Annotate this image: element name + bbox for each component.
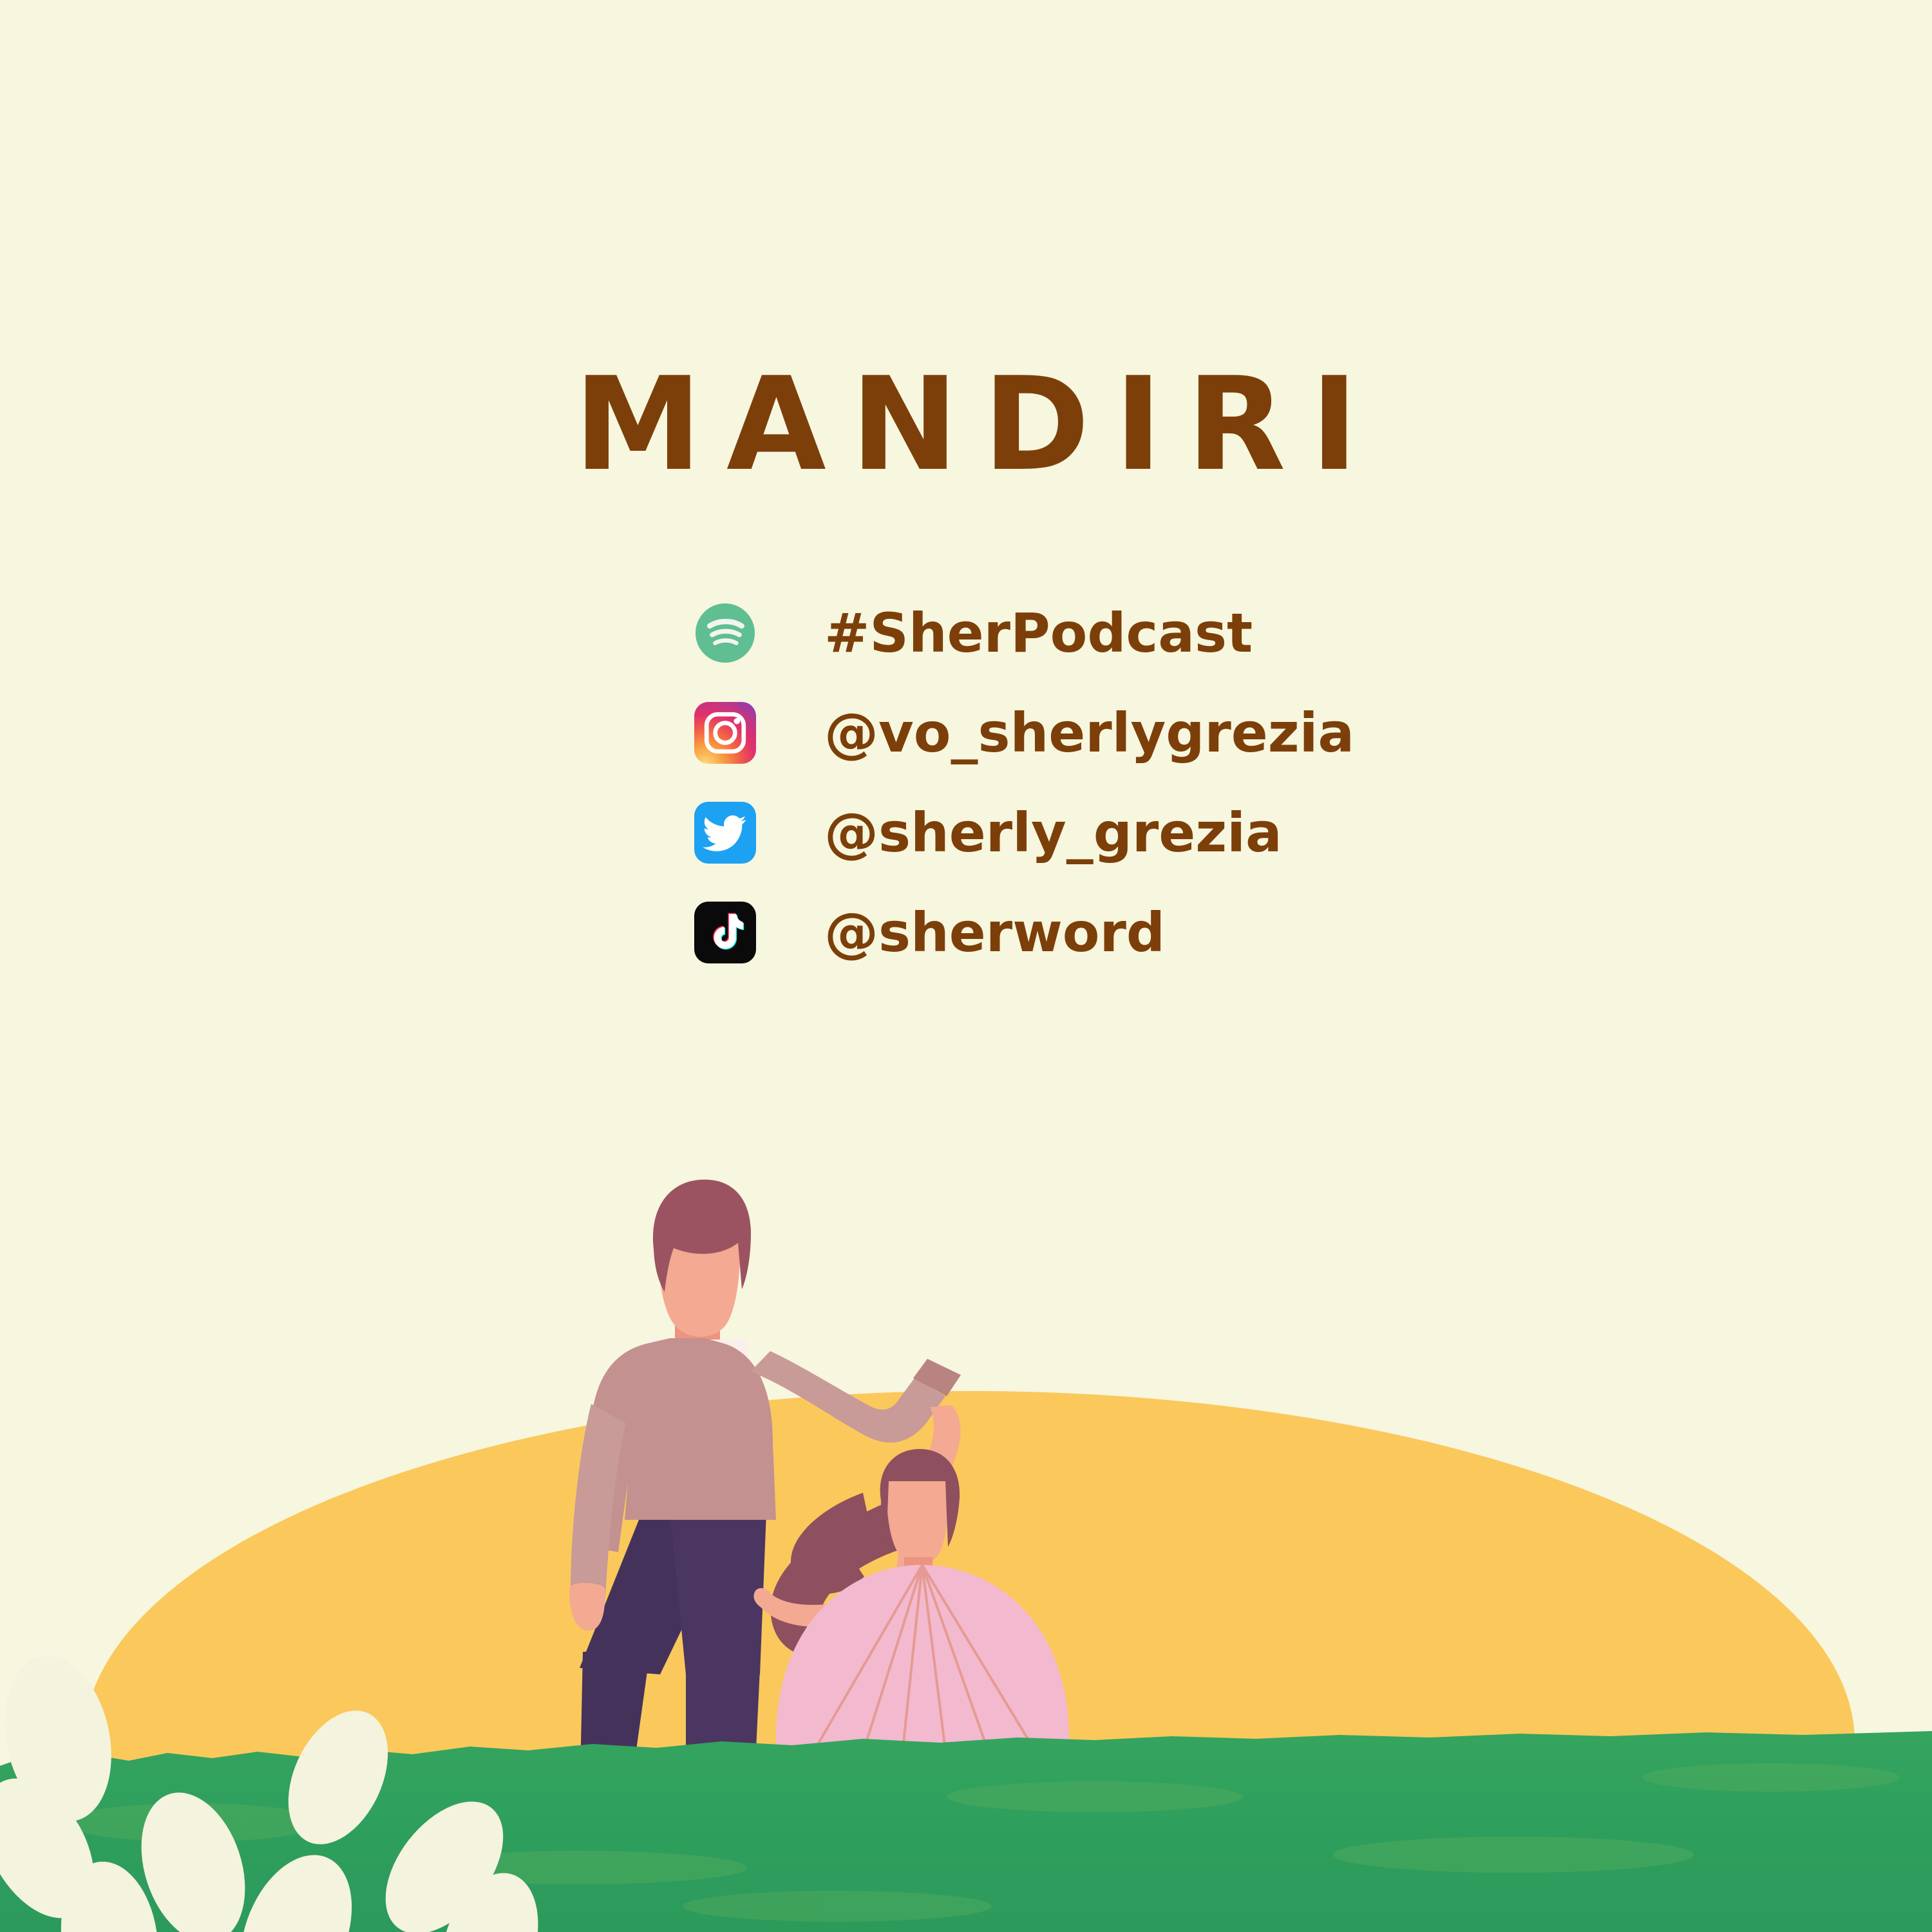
tiktok-icon[interactable] — [694, 902, 756, 963]
poster-canvas: MANDIRI #SherPodcast — [0, 0, 1932, 1932]
spotify-icon[interactable] — [694, 602, 756, 664]
instagram-icon[interactable] — [694, 702, 756, 764]
social-handle-twitter: @sherly_grezia — [824, 806, 1282, 860]
twitter-icon[interactable] — [694, 802, 756, 864]
page-title: MANDIRI — [0, 361, 1932, 489]
social-row-twitter[interactable]: @sherly_grezia — [694, 782, 1596, 882]
social-handle-spotify: #SherPodcast — [824, 606, 1253, 660]
social-row-spotify[interactable]: #SherPodcast — [694, 583, 1596, 683]
social-handle-tiktok: @sherword — [824, 905, 1165, 960]
social-handle-instagram: @vo_sherlygrezia — [824, 706, 1354, 760]
social-links-list: #SherPodcast @vo_sherlygrezia — [694, 583, 1596, 982]
social-row-tiktok[interactable]: @sherword — [694, 882, 1596, 982]
social-row-instagram[interactable]: @vo_sherlygrezia — [694, 683, 1596, 782]
man-right-thigh — [670, 1510, 766, 1674]
